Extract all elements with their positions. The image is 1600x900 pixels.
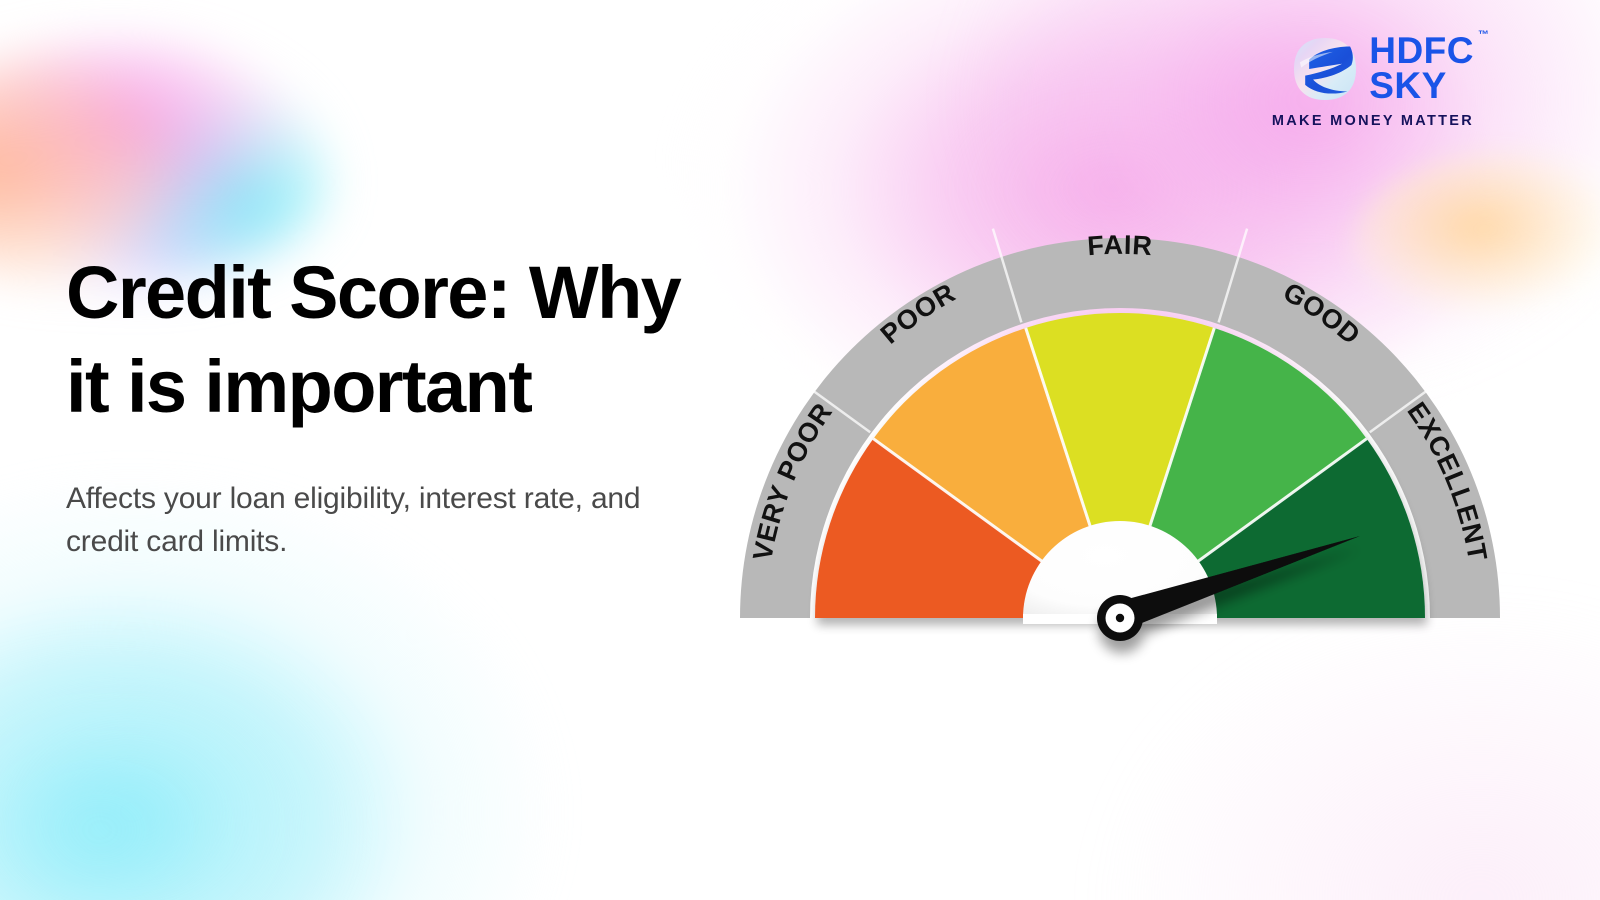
page-subtitle: Affects your loan eligibility, interest … [66, 478, 646, 563]
needle-hub-dot [1116, 614, 1124, 622]
brand-tagline: MAKE MONEY MATTER [1272, 113, 1474, 129]
logo-name-line2: SKY [1369, 69, 1474, 104]
gauge-label-fair: FAIR [1086, 230, 1153, 261]
logo-name-line1: HDFC [1369, 34, 1474, 69]
logo-wordmark: HDFC SKY ™ [1369, 34, 1474, 104]
copy-block: Credit Score: Why it is important Affect… [66, 246, 706, 563]
trademark-symbol: ™ [1478, 29, 1489, 41]
brand-logo: HDFC SKY ™ MAKE MONEY MATTER [1272, 34, 1474, 129]
hdfc-sky-swoosh-icon [1292, 36, 1358, 102]
logo-row: HDFC SKY ™ [1292, 34, 1474, 104]
gauge-svg: VERY POOR POOR FAIR GOOD EXCELLENT [740, 236, 1500, 656]
page-title: Credit Score: Why it is important [66, 246, 706, 434]
credit-score-gauge: VERY POOR POOR FAIR GOOD EXCELLENT [740, 236, 1500, 656]
